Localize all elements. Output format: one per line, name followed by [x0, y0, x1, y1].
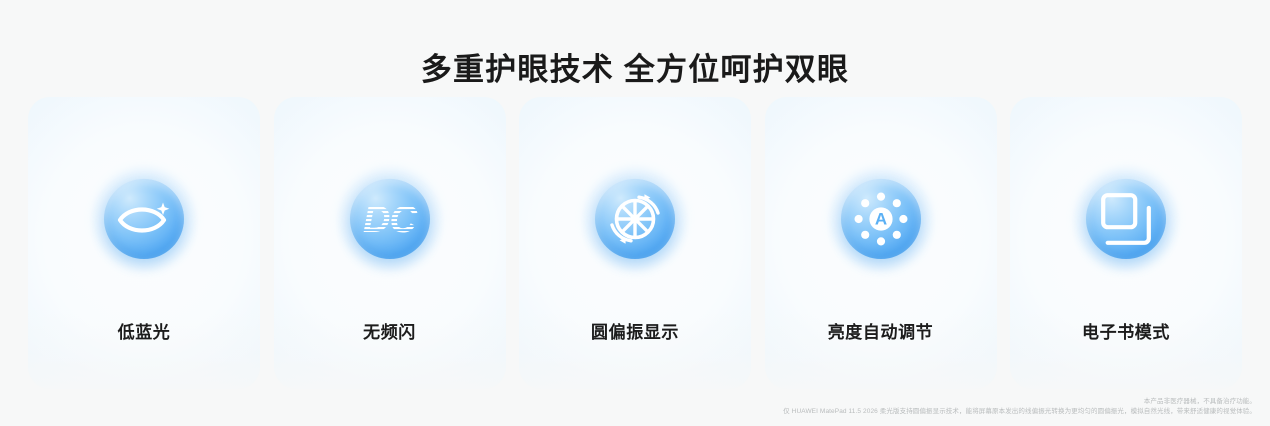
eye-sparkle-icon [116, 199, 172, 239]
svg-text:A: A [874, 210, 886, 229]
feature-card-label: 无频闪 [363, 318, 416, 343]
icon-orb: A [829, 167, 933, 271]
feature-card-low-blue-light[interactable]: 低蓝光 [28, 97, 260, 389]
page-title: 多重护眼技术 全方位呵护双眼 [0, 44, 1270, 89]
footnote-disclaimer: 本产品非医疗器械，不具备治疗功能。 [1144, 397, 1256, 407]
feature-card-flicker-free[interactable]: DC 无频闪 [274, 97, 506, 389]
feature-card-label: 电子书模式 [1082, 318, 1170, 343]
orb-body [1086, 179, 1166, 259]
ebook-mode-icon [1101, 193, 1151, 245]
icon-orb [1074, 167, 1178, 271]
orb-body: A [841, 179, 921, 259]
icon-orb [583, 167, 687, 271]
svg-text:DC: DC [363, 199, 417, 241]
orb-body [104, 179, 184, 259]
circular-polarizer-icon [608, 192, 662, 246]
feature-card-ebook-mode[interactable]: 电子书模式 [1010, 97, 1242, 389]
feature-card-list: 低蓝光 [28, 97, 1242, 389]
feature-card-circular-polarization[interactable]: 圆偏振显示 [519, 97, 751, 389]
auto-brightness-icon: A [854, 192, 908, 246]
orb-body: DC [350, 179, 430, 259]
feature-card-label: 亮度自动调节 [828, 318, 934, 343]
feature-card-auto-brightness[interactable]: A [765, 97, 997, 389]
dc-dimming-icon: DC [362, 198, 418, 240]
feature-card-label: 圆偏振显示 [591, 318, 679, 343]
icon-orb [92, 167, 196, 271]
feature-card-label: 低蓝光 [118, 318, 171, 343]
eye-care-feature-panel: 多重护眼技术 全方位呵护双眼 [0, 0, 1270, 426]
icon-orb: DC [338, 167, 442, 271]
orb-body [595, 179, 675, 259]
footnote-polarizer: 仅 HUAWEI MatePad 11.5 2026 柔光版支持圆偏振显示技术，… [783, 407, 1256, 417]
